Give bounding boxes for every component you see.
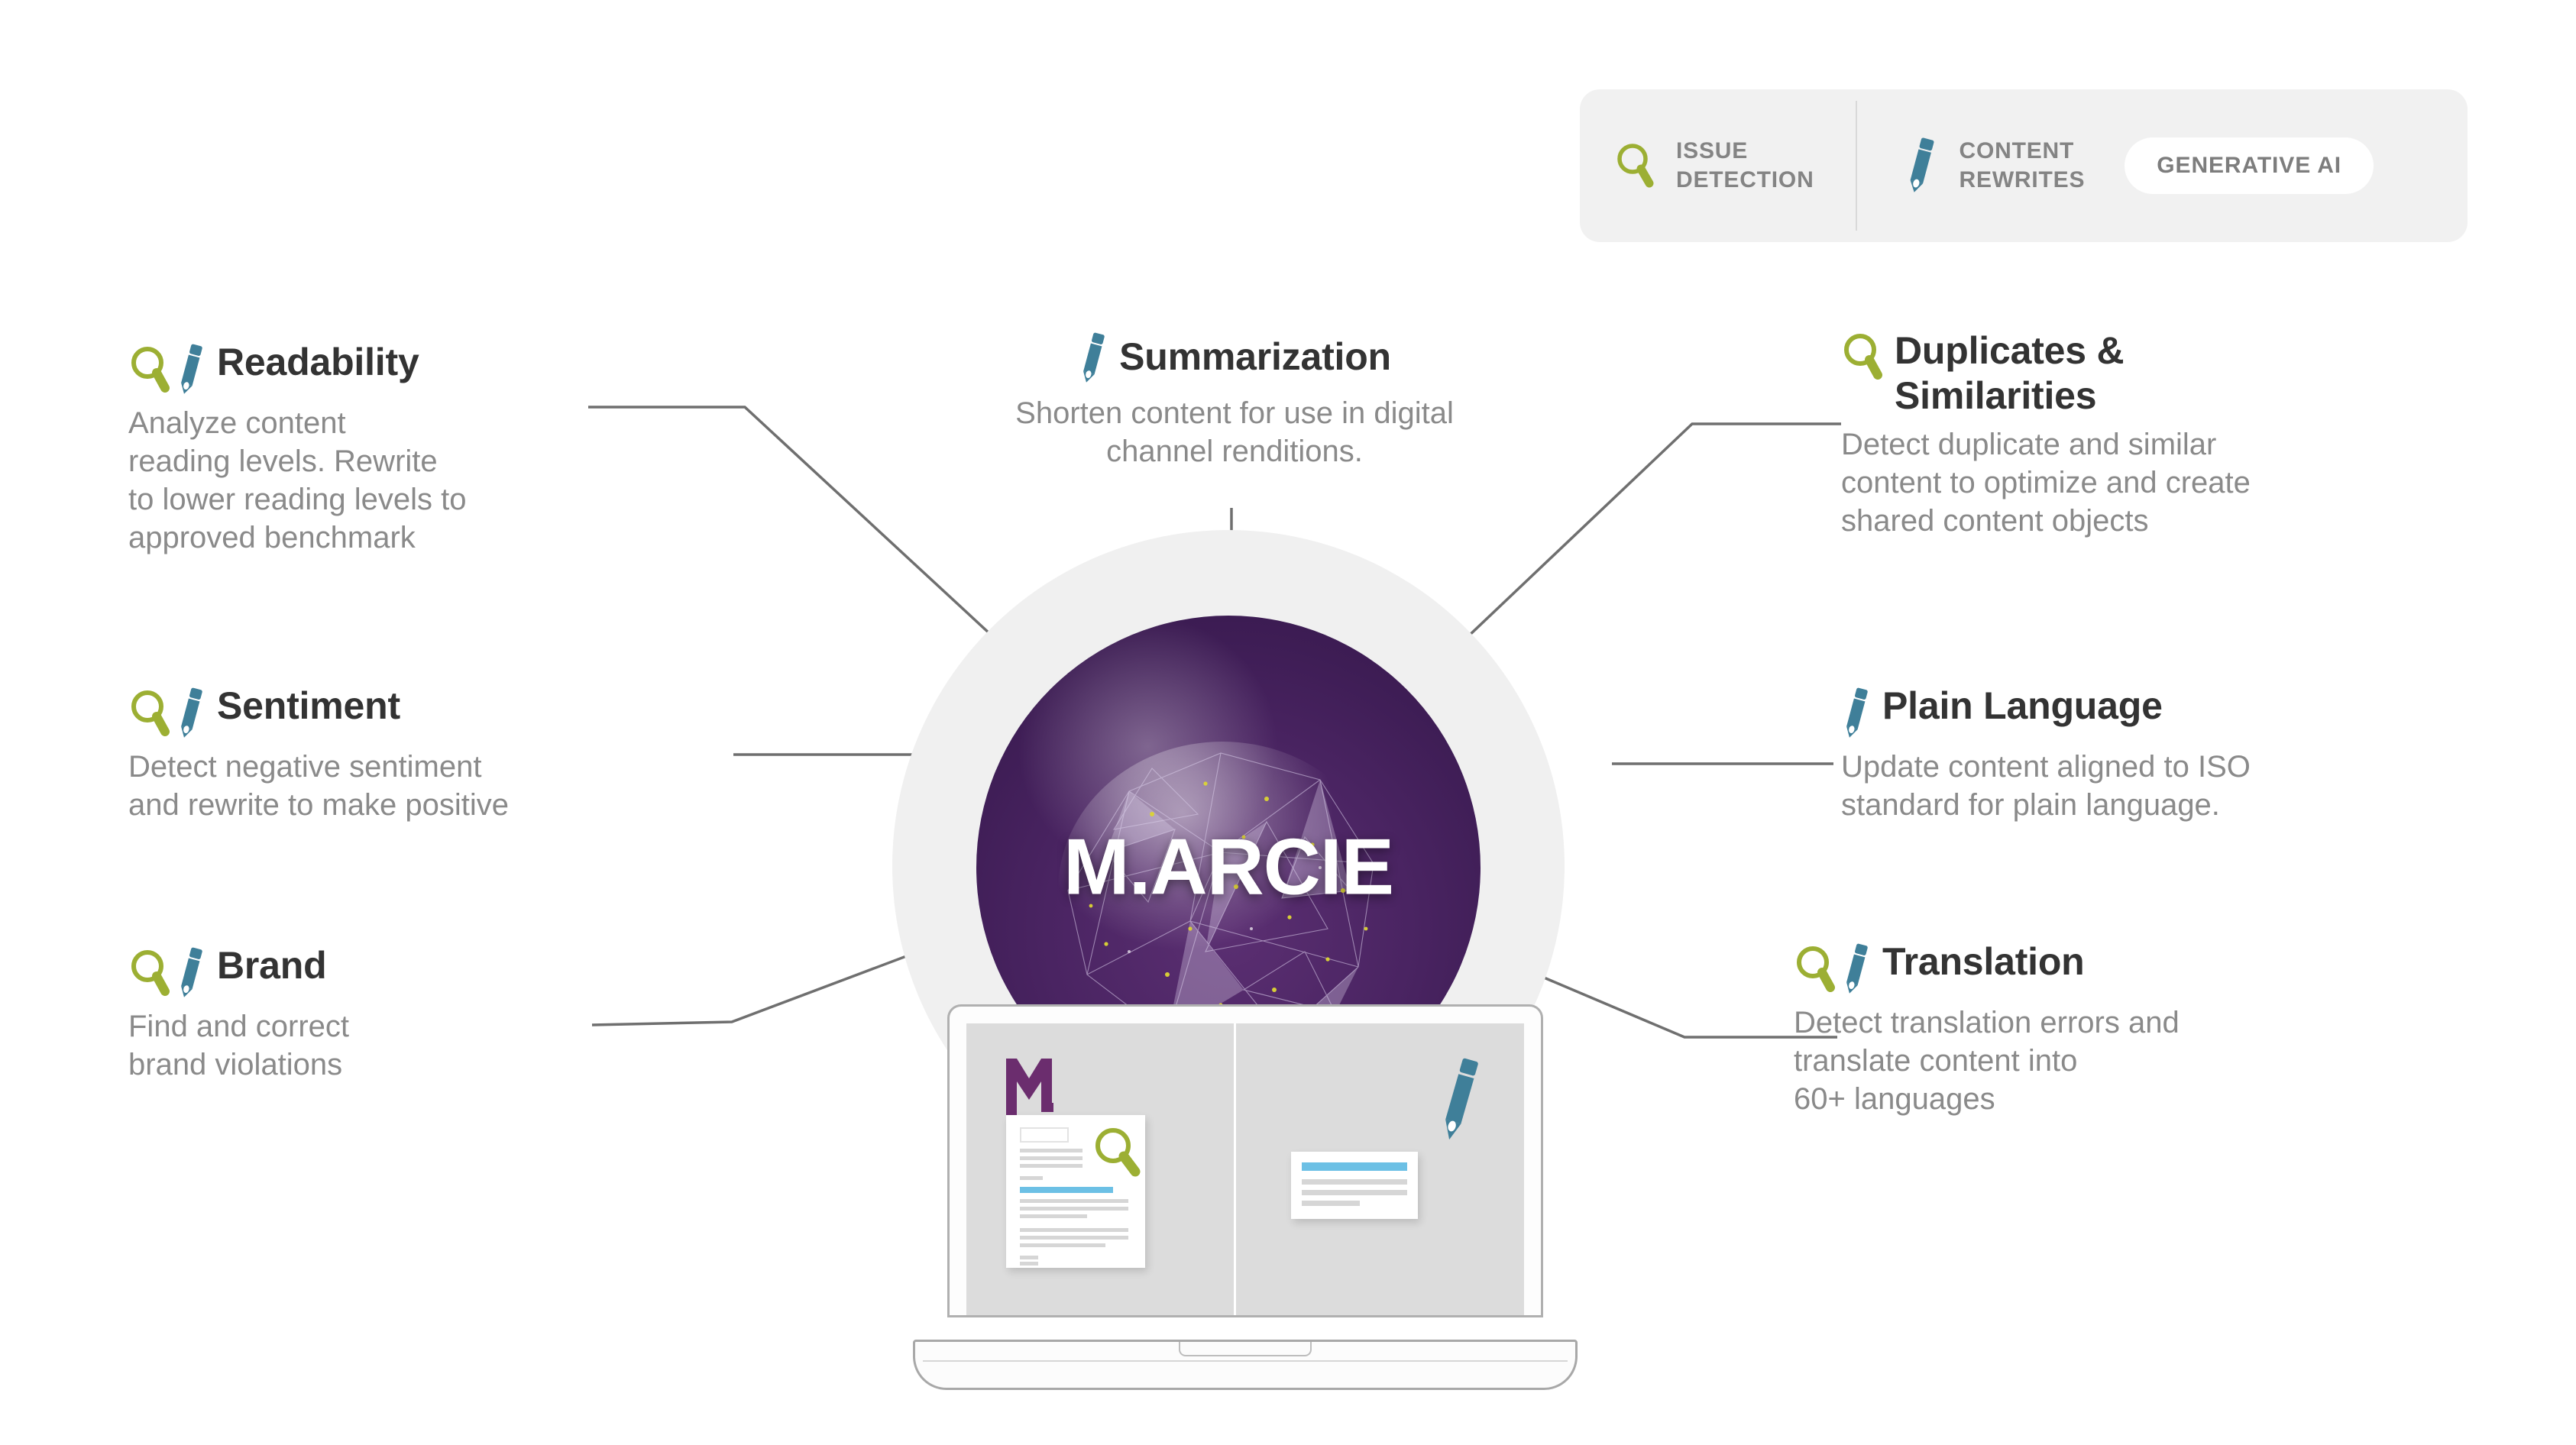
feature-brand[interactable]: Brand Find and correct brand violations bbox=[128, 943, 587, 1084]
feature-translation-icons bbox=[1794, 939, 1872, 996]
pencil-icon bbox=[1438, 1057, 1481, 1143]
laptop-notch bbox=[1179, 1342, 1312, 1356]
screen-pane-left bbox=[966, 1023, 1236, 1315]
feature-plain-language-title: Plain Language bbox=[1882, 684, 2163, 729]
feature-brand-title: Brand bbox=[217, 943, 326, 988]
feature-readability-title: Readability bbox=[217, 340, 419, 385]
screen-pane-right bbox=[1236, 1023, 1524, 1315]
feature-brand-header: Brand bbox=[128, 943, 587, 1000]
feature-readability-desc: Analyze content reading levels. Rewrite … bbox=[128, 404, 602, 557]
feature-brand-desc: Find and correct brand violations bbox=[128, 1007, 587, 1084]
infographic-canvas: M.ARCIE bbox=[0, 0, 2576, 1445]
card-highlight-bar bbox=[1302, 1162, 1407, 1171]
feature-readability-icons bbox=[128, 340, 206, 396]
feature-readability-header: Readability bbox=[128, 340, 602, 396]
pencil-icon bbox=[1841, 687, 1872, 740]
marcie-logo: M.ARCIE bbox=[976, 823, 1481, 913]
rewritten-card-preview bbox=[1291, 1152, 1418, 1219]
laptop-seam bbox=[923, 1360, 1568, 1362]
magnifier-icon bbox=[1615, 142, 1655, 189]
feature-summarization-header: Summarization bbox=[944, 328, 1525, 385]
feature-plain-language-icons bbox=[1841, 684, 1872, 740]
pencil-icon bbox=[1841, 942, 1872, 996]
laptop-base bbox=[913, 1340, 1578, 1390]
connector-brand bbox=[592, 938, 955, 1025]
feature-duplicates[interactable]: Duplicates & Similarities Detect duplica… bbox=[1841, 328, 2391, 540]
feature-translation[interactable]: Translation Detect translation errors an… bbox=[1794, 939, 2328, 1118]
magnifier-icon bbox=[1092, 1126, 1141, 1179]
feature-translation-desc: Detect translation errors and translate … bbox=[1794, 1004, 2328, 1118]
legend-item-content-rewrites[interactable]: CONTENT REWRITES GENERATIVE AI bbox=[1857, 89, 2374, 242]
pencil-icon bbox=[1904, 137, 1938, 195]
magnifier-icon bbox=[128, 344, 171, 395]
feature-plain-language[interactable]: Plain Language Update content aligned to… bbox=[1841, 684, 2376, 824]
doc-title-box bbox=[1020, 1127, 1069, 1143]
document-preview bbox=[1006, 1115, 1145, 1268]
generative-ai-badge[interactable]: GENERATIVE AI bbox=[2125, 137, 2374, 194]
feature-translation-title: Translation bbox=[1882, 939, 2085, 984]
legend-label-content-rewrites: CONTENT REWRITES bbox=[1960, 137, 2086, 195]
feature-sentiment[interactable]: Sentiment Detect negative sentiment and … bbox=[128, 684, 648, 824]
feature-sentiment-title: Sentiment bbox=[217, 684, 400, 729]
feature-plain-language-header: Plain Language bbox=[1841, 684, 2376, 740]
pencil-icon bbox=[1078, 331, 1108, 385]
pencil-icon bbox=[176, 687, 206, 740]
feature-summarization-desc: Shorten content for use in digital chann… bbox=[944, 394, 1525, 470]
legend-item-issue-detection[interactable]: ISSUE DETECTION bbox=[1580, 89, 1856, 242]
feature-duplicates-title: Duplicates & Similarities bbox=[1895, 328, 2124, 418]
feature-summarization[interactable]: Summarization Shorten content for use in… bbox=[944, 328, 1525, 470]
pencil-icon bbox=[176, 343, 206, 396]
laptop-illustration bbox=[913, 1004, 1578, 1390]
feature-brand-icons bbox=[128, 943, 206, 1000]
magnifier-icon bbox=[1794, 944, 1837, 994]
feature-duplicates-desc: Detect duplicate and similar content to … bbox=[1841, 425, 2391, 540]
magnifier-icon bbox=[1841, 331, 1884, 382]
laptop-screen bbox=[966, 1023, 1524, 1315]
feature-duplicates-icons bbox=[1841, 328, 1884, 382]
feature-summarization-title: Summarization bbox=[1119, 335, 1391, 380]
laptop-lid bbox=[947, 1004, 1543, 1317]
feature-duplicates-header: Duplicates & Similarities bbox=[1841, 328, 2391, 418]
feature-readability[interactable]: Readability Analyze content reading leve… bbox=[128, 340, 602, 557]
feature-sentiment-icons bbox=[128, 684, 206, 740]
feature-translation-header: Translation bbox=[1794, 939, 2328, 996]
magnifier-icon bbox=[128, 688, 171, 739]
legend-label-issue-detection: ISSUE DETECTION bbox=[1676, 137, 1814, 195]
magnifier-icon bbox=[128, 948, 171, 998]
feature-sentiment-header: Sentiment bbox=[128, 684, 648, 740]
feature-summarization-icons bbox=[1078, 328, 1108, 385]
feature-sentiment-desc: Detect negative sentiment and rewrite to… bbox=[128, 748, 648, 824]
legend-bar: ISSUE DETECTION CONTENT REWRITES GENERAT… bbox=[1580, 89, 2468, 242]
pencil-icon bbox=[176, 946, 206, 1000]
feature-plain-language-desc: Update content aligned to ISO standard f… bbox=[1841, 748, 2376, 824]
